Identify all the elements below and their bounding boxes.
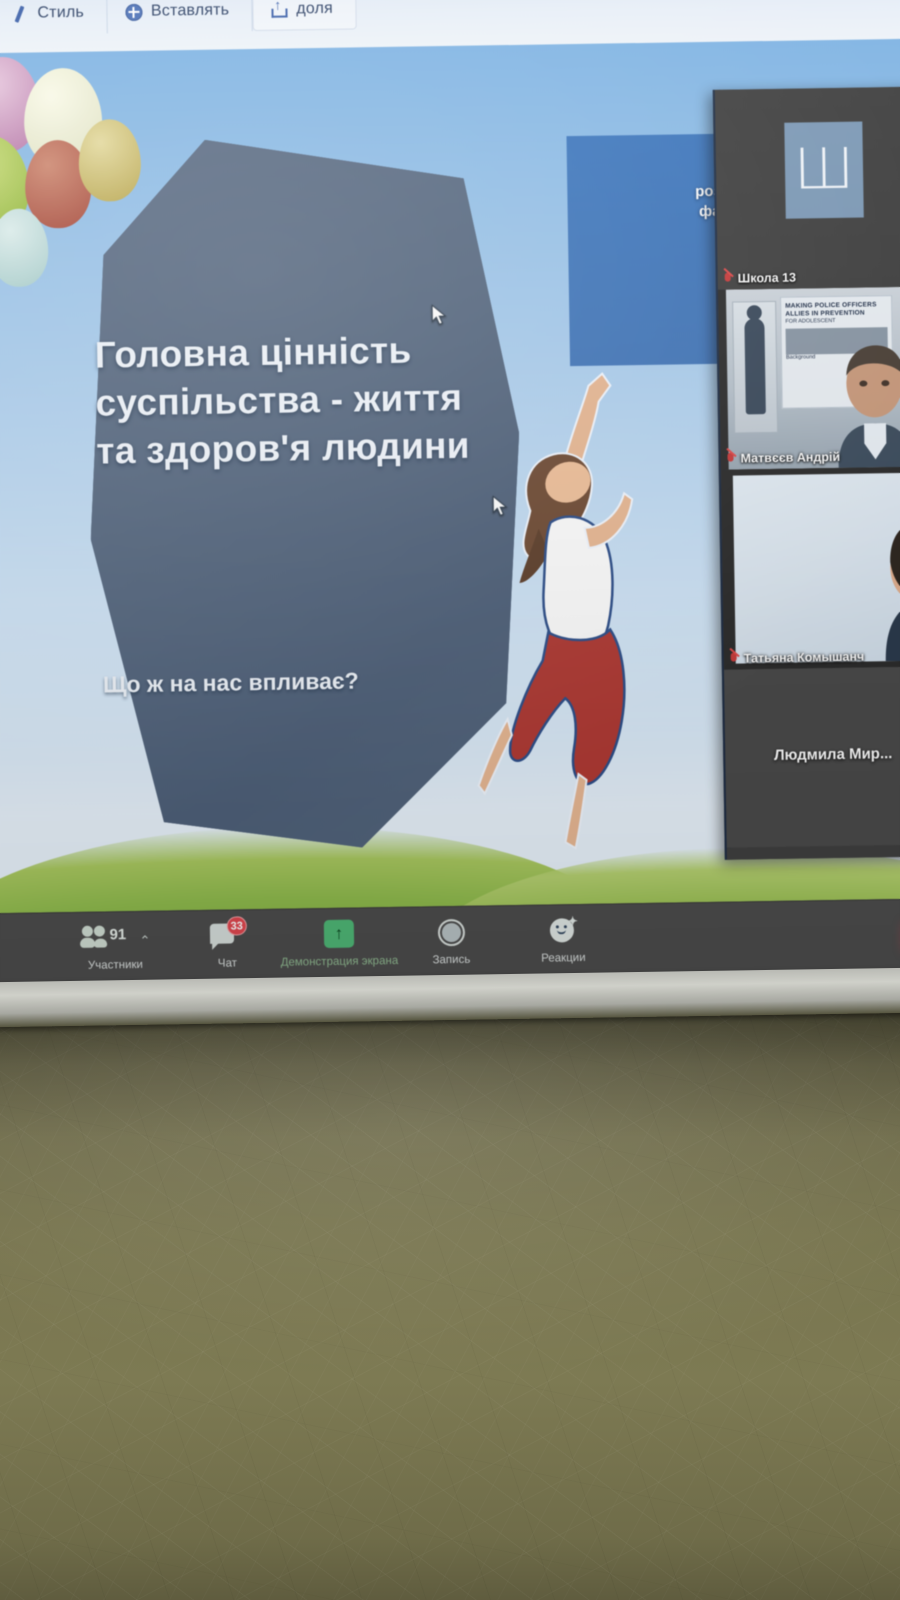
- control-reactions[interactable]: ✦ Реакции: [507, 912, 620, 965]
- slide-canvas: Головна цінність суспільства - життя та …: [0, 39, 900, 944]
- toolbar-item-style-label: Стиль: [37, 4, 84, 23]
- record-circle-icon: [437, 918, 464, 945]
- slide-title: Головна цінність суспільства - життя та …: [94, 325, 516, 476]
- reactions-smiley-icon: ✦: [549, 916, 577, 944]
- reactions-icon-wrap: ✦: [549, 913, 578, 947]
- jumping-girl-image: [469, 313, 667, 856]
- people-icon: 91: [79, 924, 125, 951]
- mic-muted-icon: [730, 652, 739, 665]
- banner-figure: [744, 318, 766, 414]
- control-share-screen[interactable]: ↑ Демонстрация экрана: [283, 916, 396, 969]
- participant-tile-school-13[interactable]: Ш Школа 13: [715, 86, 900, 289]
- participant-name-row: Татьяна Комышанч: [730, 650, 865, 666]
- hexagon-shape: [84, 135, 525, 852]
- control-reactions-label: Реакции: [541, 952, 586, 965]
- control-record[interactable]: Запись: [395, 914, 508, 967]
- poster-section: Background: [786, 354, 815, 360]
- wall-shading: [0, 1005, 900, 1600]
- toolbar-item-insert[interactable]: Вставлять: [107, 0, 253, 33]
- chat-icon-wrap: 33: [210, 918, 245, 953]
- pen-icon: [11, 5, 28, 22]
- participant-filmstrip[interactable]: Ш Школа 13 MAKING POLICE OFFICERS ALLIES…: [713, 86, 900, 859]
- chat-unread-badge: 33: [226, 916, 247, 935]
- share-screen-icon: ↑: [324, 920, 354, 948]
- participant-name: Татьяна Комышанч: [744, 650, 865, 666]
- slide-title-line-3: та здоров'я людини: [96, 421, 517, 476]
- participant-tile-lyudmila[interactable]: Людмила Мир...: [724, 666, 900, 847]
- room-photo: Стиль Вставлять доля ···: [0, 0, 900, 1600]
- toolbar-item-insert-label: Вставлять: [151, 1, 230, 20]
- toolbar-item-share-label: доля: [296, 0, 333, 18]
- participant-tile-komyshanch[interactable]: Татьяна Комышанч: [721, 466, 900, 669]
- poster-headline: MAKING POLICE OFFICERS ALLIES IN PREVENT…: [785, 301, 887, 319]
- slide-title-line-1: Головна цінність: [94, 325, 515, 380]
- control-share-screen-label: Демонстрация экрана: [281, 955, 399, 969]
- control-participants-label: Участники: [88, 959, 143, 972]
- participant-tile-matveev[interactable]: MAKING POLICE OFFICERS ALLIES IN PREVENT…: [718, 286, 900, 469]
- participant-name-row: Школа 13: [724, 271, 796, 286]
- toolbar-item-share[interactable]: доля: [252, 0, 356, 31]
- mic-muted-icon: [724, 272, 733, 285]
- video-feed: [733, 472, 900, 663]
- share-icon-wrap: ↑: [324, 917, 355, 951]
- person-video-silhouette: [733, 472, 900, 663]
- projection-screen: Стиль Вставлять доля ···: [0, 0, 900, 1001]
- participant-count: 91: [109, 926, 126, 943]
- control-chat-label: Чат: [218, 957, 237, 969]
- video-feed: MAKING POLICE OFFICERS ALLIES IN PREVENT…: [726, 286, 900, 469]
- record-icon-wrap: [437, 915, 465, 949]
- participant-name-row: Матвєєв Андрій: [726, 450, 840, 466]
- participant-name: Людмила Мир...: [725, 745, 900, 765]
- avatar: Ш: [784, 122, 863, 219]
- poster-subhead: FOR ADOLESCENT: [785, 318, 835, 325]
- chat-bubble-icon: 33: [210, 921, 244, 950]
- control-chat[interactable]: 33 Чат: [171, 918, 284, 971]
- wall-background: [0, 1005, 900, 1600]
- participant-name: Школа 13: [738, 271, 796, 286]
- chevron-up-icon[interactable]: ⌃: [139, 933, 150, 949]
- control-participants[interactable]: 91 ⌃ Участники: [59, 919, 172, 972]
- slide-title-line-2: суспільства - життя: [95, 373, 516, 428]
- share-upload-icon: [271, 2, 287, 18]
- plus-circle-icon: [125, 3, 142, 20]
- control-record-label: Запись: [432, 954, 470, 967]
- toolbar-item-style[interactable]: Стиль: [0, 0, 107, 35]
- rollup-banner: [732, 301, 778, 434]
- participant-name: Матвєєв Андрій: [740, 450, 840, 466]
- mic-muted-icon: [726, 452, 735, 465]
- people-icon-wrap: 91 ⌃: [79, 920, 150, 955]
- person-video-silhouette: [827, 327, 900, 468]
